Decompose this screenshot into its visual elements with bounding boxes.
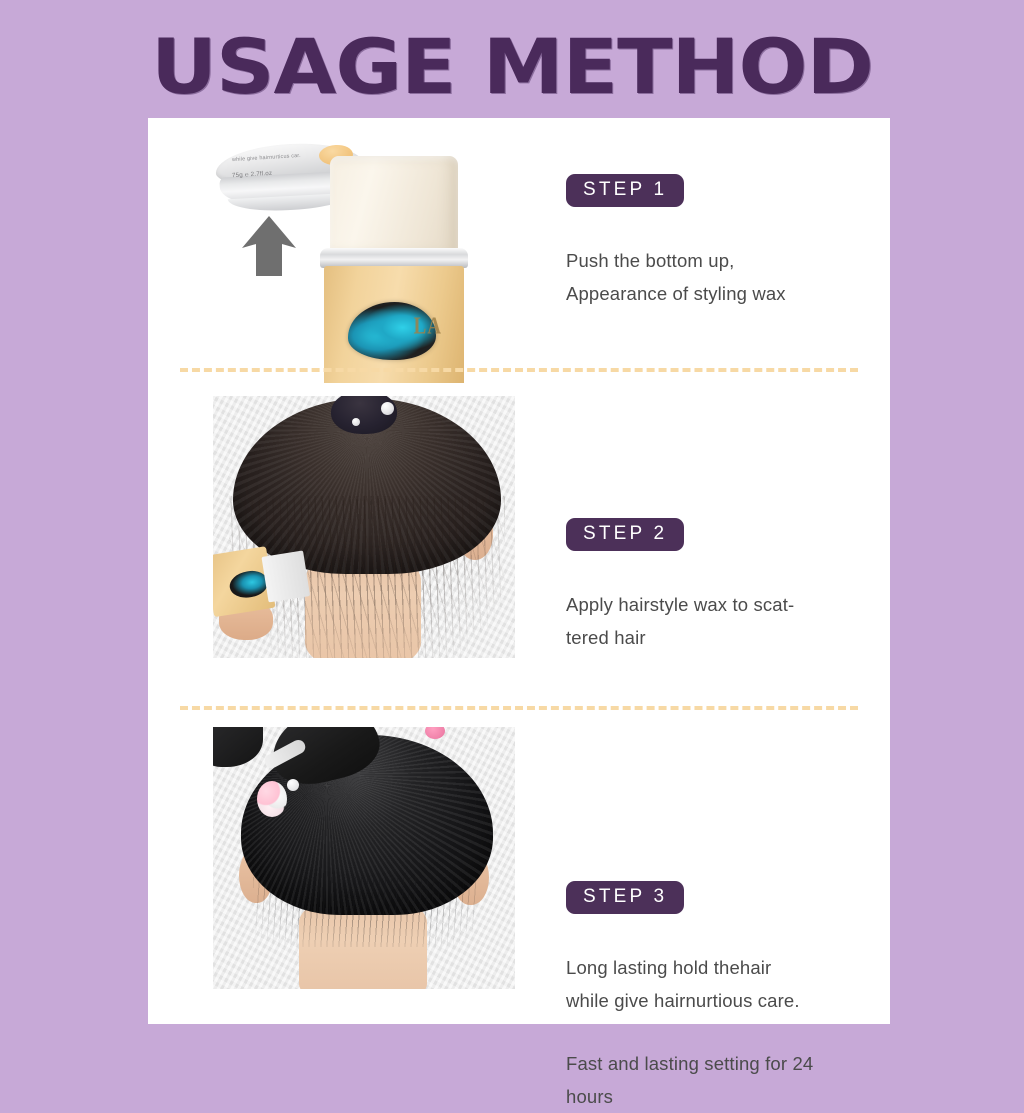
bead-accent: [287, 779, 299, 791]
step-3-photo: [213, 727, 515, 989]
brand-mark-text: LA: [414, 313, 442, 342]
shoulder-hair: [213, 727, 263, 767]
stick-gold-body: LA: [324, 266, 464, 383]
step-3-line-3: Fast and lasting setting for 24: [566, 1047, 813, 1080]
stick-silver-rim: [320, 248, 468, 268]
step-row-1: while give hairnurticus car. 75g ℮ 2.7fl…: [148, 118, 890, 383]
page-title: USAGE METHOD: [0, 28, 1024, 106]
step-3-description: Long lasting hold thehair while give hai…: [566, 951, 813, 1113]
pink-clip: [425, 727, 445, 739]
step-1-line-2: Appearance of styling wax: [566, 277, 786, 310]
step-2-photo: [213, 396, 515, 658]
step-row-3: STEP 3 Long lasting hold thehair while g…: [148, 715, 890, 1024]
step-2-description: Apply hairstyle wax to scat- tered hair: [566, 588, 794, 654]
flower-hair-clip: [257, 781, 287, 817]
step-3-line-4: hours: [566, 1080, 813, 1113]
wax-stick-product: LA: [320, 156, 468, 383]
step-1-text: STEP 1 Push the bottom up, Appearance of…: [528, 118, 890, 383]
pearl-hair-pin: [381, 402, 394, 415]
divider-1: [180, 368, 858, 372]
step-3-line-1: Long lasting hold thehair: [566, 951, 813, 984]
step-3-text: STEP 3 Long lasting hold thehair while g…: [528, 715, 890, 1024]
arrow-up-icon: [240, 214, 298, 278]
pearl-hair-pin-small: [352, 418, 360, 426]
step-2-line-1: Apply hairstyle wax to scat-: [566, 588, 794, 621]
step-2-media: [148, 390, 528, 708]
step-1-media: while give hairnurticus car. 75g ℮ 2.7fl…: [148, 118, 528, 383]
step-3-line-2: while give hairnurtious care.: [566, 984, 813, 1017]
step-3-paragraph-2: Fast and lasting setting for 24 hours: [566, 1047, 813, 1113]
content-card: while give hairnurticus car. 75g ℮ 2.7fl…: [148, 118, 890, 1024]
step-2-text: STEP 2 Apply hairstyle wax to scat- tere…: [528, 390, 890, 708]
step-badge-3: STEP 3: [566, 881, 684, 914]
step-badge-1: STEP 1: [566, 174, 684, 207]
step-badge-2: STEP 2: [566, 518, 684, 551]
step-3-paragraph-1: Long lasting hold thehair while give hai…: [566, 951, 813, 1017]
product-illustration: while give hairnurticus car. 75g ℮ 2.7fl…: [148, 118, 528, 383]
step-3-media: [148, 715, 528, 1024]
sleek-hairline: [253, 877, 477, 947]
styling-wax-block: [330, 156, 458, 254]
step-1-line-1: Push the bottom up,: [566, 244, 786, 277]
stick-white-cap-mini: [261, 550, 310, 602]
step-1-description: Push the bottom up, Appearance of stylin…: [566, 244, 786, 310]
divider-2: [180, 706, 858, 710]
step-2-line-2: tered hair: [566, 621, 794, 654]
step-row-2: STEP 2 Apply hairstyle wax to scat- tere…: [148, 390, 890, 708]
